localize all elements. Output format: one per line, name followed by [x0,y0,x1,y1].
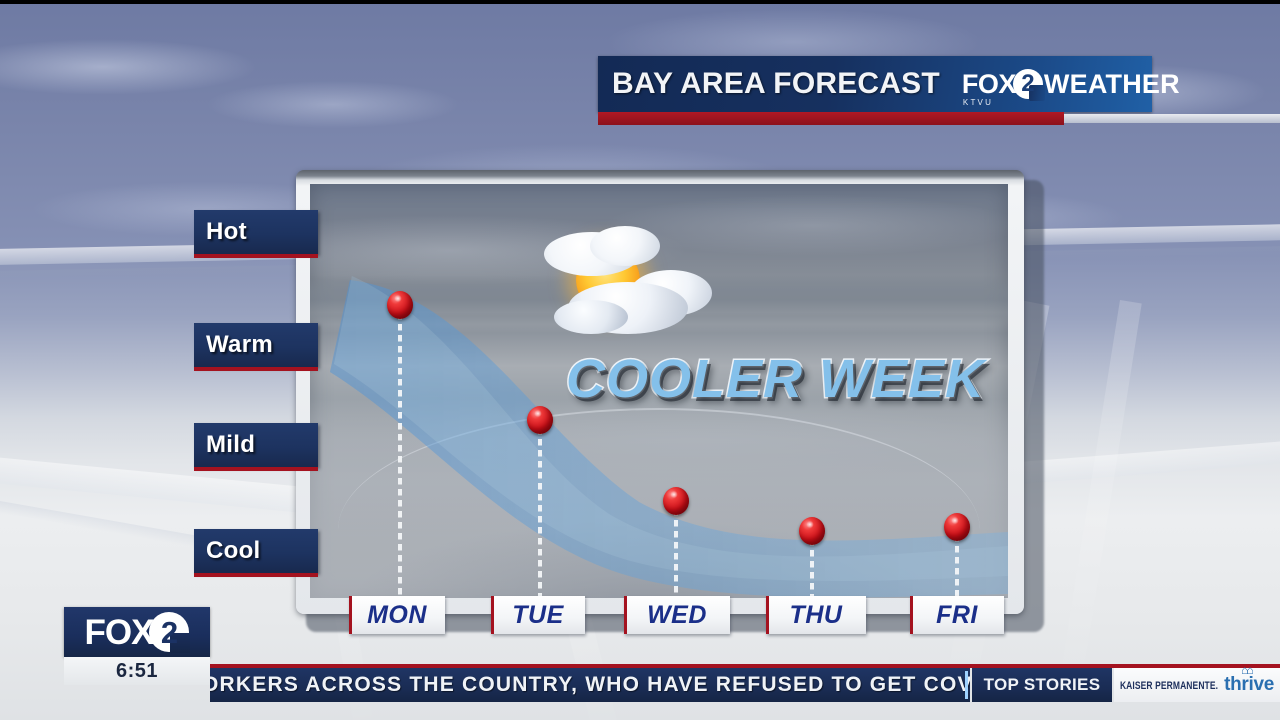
station-bug-fox-text: FOX [85,615,154,650]
fox-wordmark-text: FOX [962,69,1016,99]
fox-weather-logo: FOX KTVU 2 WEATHER [962,69,1180,100]
marker-sphere [663,487,689,515]
day-label-text: TUE [512,601,564,630]
cloud-icon [590,226,660,266]
day-label-thu: THU [766,596,866,634]
marker-sphere [944,513,970,541]
ticker-section-label-text: TOP STORIES [984,675,1101,695]
ktvu-subtext: KTVU [963,99,993,107]
sponsor-name-text: KAISER PERMANENTE. [1120,679,1218,692]
banner-red-underbar [598,112,1064,125]
category-label-warm: Warm [194,323,318,367]
day-label-mon: MON [349,596,445,634]
marker-stem [398,313,402,613]
day-label-tue: TUE [491,596,585,634]
marker-sphere [799,517,825,545]
station-bug: FOX 2 [64,607,210,657]
cloud-icon [554,300,628,334]
day-label-wed: WED [624,596,730,634]
category-label-mild-text: Mild [206,431,255,459]
news-ticker-text: ORKERS ACROSS THE COUNTRY, WHO HAVE REFU… [210,673,970,697]
weather-wordmark: WEATHER [1044,69,1180,100]
day-label-text: FRI [936,601,978,630]
fox-two-icon: 2 [1013,69,1043,99]
banner-title: BAY AREA FORECAST [612,67,940,101]
ticker-sponsor-logo: KAISER PERMANENTE. ⌂⌂ thrive [1114,668,1280,702]
category-label-cool-text: Cool [206,537,261,565]
day-label-text: WED [647,601,707,630]
broadcast-screen: BAY AREA FORECAST FOX KTVU 2 WEATHER [0,0,1280,720]
category-label-cool: Cool [194,529,318,573]
category-label-hot-text: Hot [206,218,247,246]
station-bug-digit: 2 [149,612,189,652]
category-label-mild: Mild [194,423,318,467]
news-ticker: ORKERS ACROSS THE COUNTRY, WHO HAVE REFU… [210,668,970,702]
sponsor-tagline-wrap: ⌂⌂ thrive [1224,675,1274,695]
sun-behind-clouds-icon [538,226,728,346]
day-label-fri: FRI [910,596,1004,634]
letterbox-bar [0,0,1280,4]
forecast-headline: COOLER WEEK [566,348,985,410]
banner-gray-underbar [1064,114,1280,123]
ticker-caret [965,671,968,699]
day-label-text: THU [790,601,843,630]
on-air-clock-text: 6:51 [116,660,158,683]
on-air-clock: 6:51 [64,657,210,685]
fox-wordmark: FOX KTVU [962,71,1016,98]
category-label-warm-text: Warm [206,331,273,359]
marker-sphere [527,406,553,434]
forecast-banner: BAY AREA FORECAST FOX KTVU 2 WEATHER [598,56,1152,112]
station-bug-two-icon: 2 [149,612,189,652]
fox-two-digit: 2 [1013,69,1043,99]
ticker-section-label: TOP STORIES [972,668,1112,702]
marker-sphere [387,291,413,319]
day-label-text: MON [367,601,427,630]
marker-stem [538,428,542,613]
sponsor-tagline-text: thrive [1224,674,1274,695]
category-label-hot: Hot [194,210,318,254]
sponsor-crown-icon: ⌂⌂ [1241,666,1256,675]
